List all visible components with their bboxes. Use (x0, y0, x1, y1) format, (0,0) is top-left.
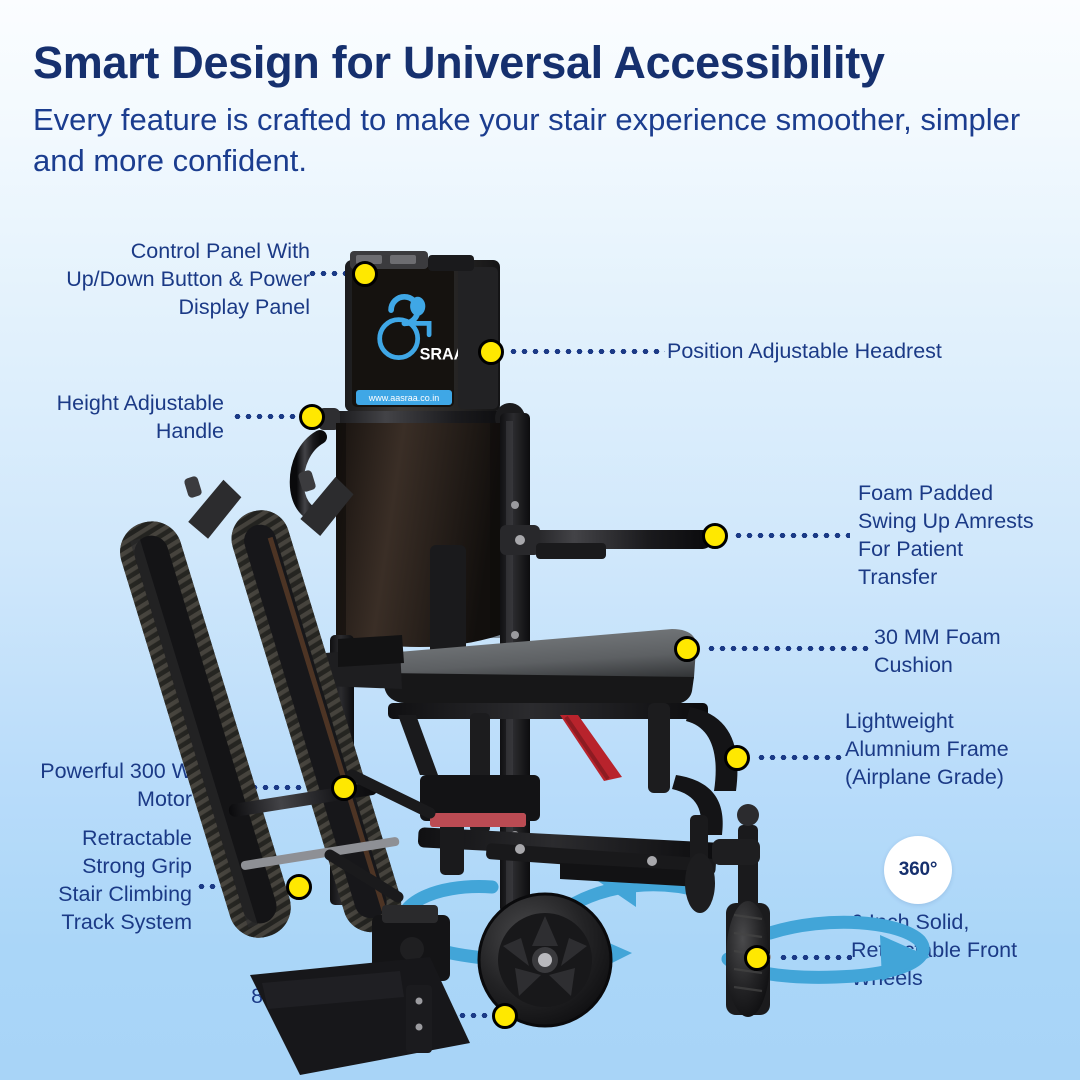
badge-360-label: 360° (899, 859, 938, 881)
marker-headrest[interactable] (478, 339, 504, 365)
svg-text:www.aasraa.co.in: www.aasraa.co.in (368, 393, 440, 403)
product-image: SRAA www.aasraa.co.in (0, 215, 1080, 1080)
marker-motor[interactable] (331, 775, 357, 801)
page-subtitle: Every feature is crafted to make your st… (33, 99, 1053, 181)
header: Smart Design for Universal Accessibility… (33, 40, 1053, 181)
marker-frame[interactable] (724, 745, 750, 771)
marker-rear-wheels[interactable] (492, 1003, 518, 1029)
badge-360-degree: 360° (884, 836, 952, 904)
backrest (336, 423, 502, 647)
marker-track[interactable] (286, 874, 312, 900)
front-caster-wheel (712, 804, 771, 1017)
chassis (418, 775, 719, 887)
marker-armrest[interactable] (702, 523, 728, 549)
infographic-canvas: Smart Design for Universal Accessibility… (0, 0, 1080, 1080)
marker-cushion[interactable] (674, 636, 700, 662)
marker-front-wheels[interactable] (744, 945, 770, 971)
seat-cushion (300, 629, 696, 705)
marker-handle[interactable] (299, 404, 325, 430)
page-title: Smart Design for Universal Accessibility (33, 40, 1053, 85)
marker-control-panel[interactable] (352, 261, 378, 287)
